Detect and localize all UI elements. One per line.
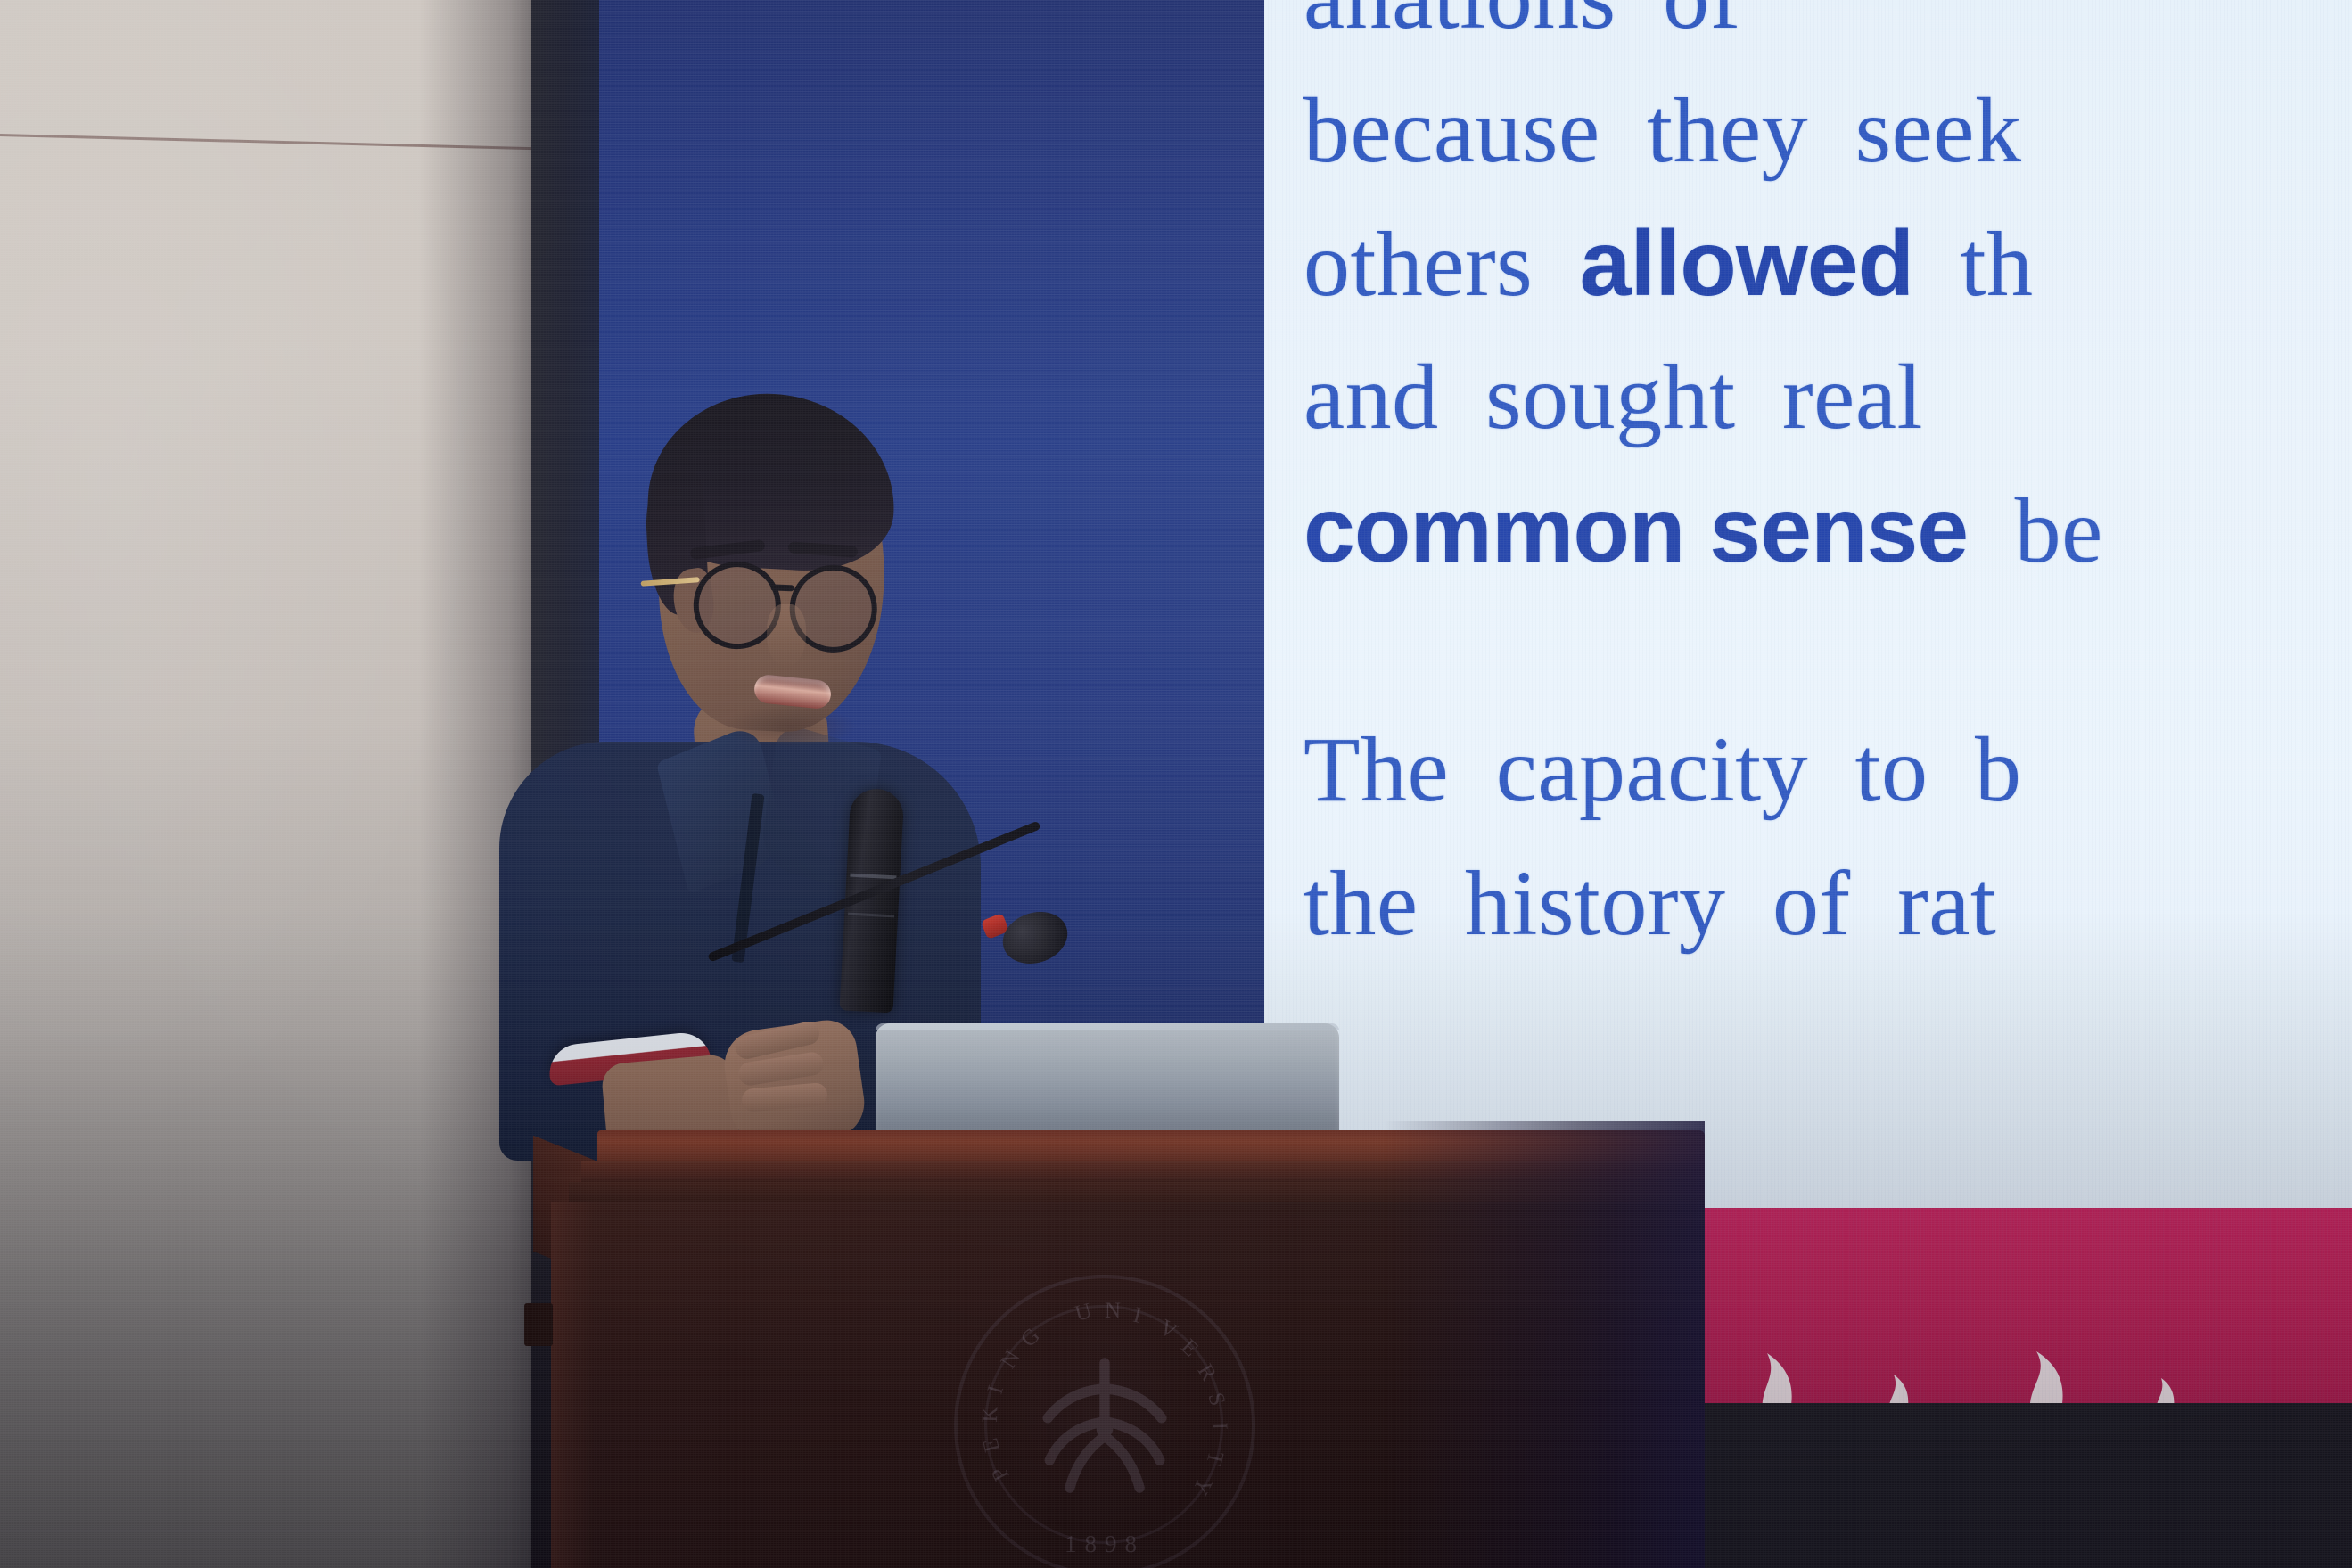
podium-university-seal: PEKING UNIVERSITY 1898 [954, 1275, 1255, 1568]
laptop-lid-edge [876, 1023, 1339, 1030]
slide-line-2-plain-a: others [1303, 213, 1580, 316]
slide-line-5: The capacity to b [1303, 703, 2352, 837]
podium-seal-ring-text: PEKING UNIVERSITY [958, 1278, 1252, 1568]
speaker-chin-shadow [722, 706, 856, 747]
podium-right-shadow [1384, 1121, 1705, 1568]
podium-side-detail [524, 1303, 553, 1346]
slide-line-4-bold: common sense [1303, 479, 1968, 582]
podium-seal-year: 1898 [958, 1531, 1252, 1558]
lectern-podium: PEKING UNIVERSITY 1898 [419, 1121, 1705, 1568]
slide-line-2: others allowed th [1303, 198, 2352, 332]
slide-line-1: because they seek [1303, 64, 2352, 198]
slide-line-0: anations of [1303, 0, 2352, 64]
slide-paragraph-gap [1303, 598, 2352, 703]
slide-line-3: and sought real [1303, 331, 2352, 464]
speaker-nose [767, 604, 806, 667]
slide-line-4-plain: be [1968, 480, 2103, 582]
slide-line-4: common sense be [1303, 464, 2352, 598]
slide-line-6: the history of rat [1303, 837, 2352, 971]
slide-line-2-bold: allowed [1580, 212, 1913, 316]
lecture-photograph: anations of because they seek others all… [0, 0, 2352, 1568]
podium-left-bevel [551, 1202, 594, 1568]
glasses-bridge [770, 584, 794, 591]
slide-line-2-plain-b: th [1913, 213, 2033, 316]
slide-text-block: anations of because they seek others all… [1264, 0, 2352, 970]
laptop [876, 1023, 1339, 1135]
